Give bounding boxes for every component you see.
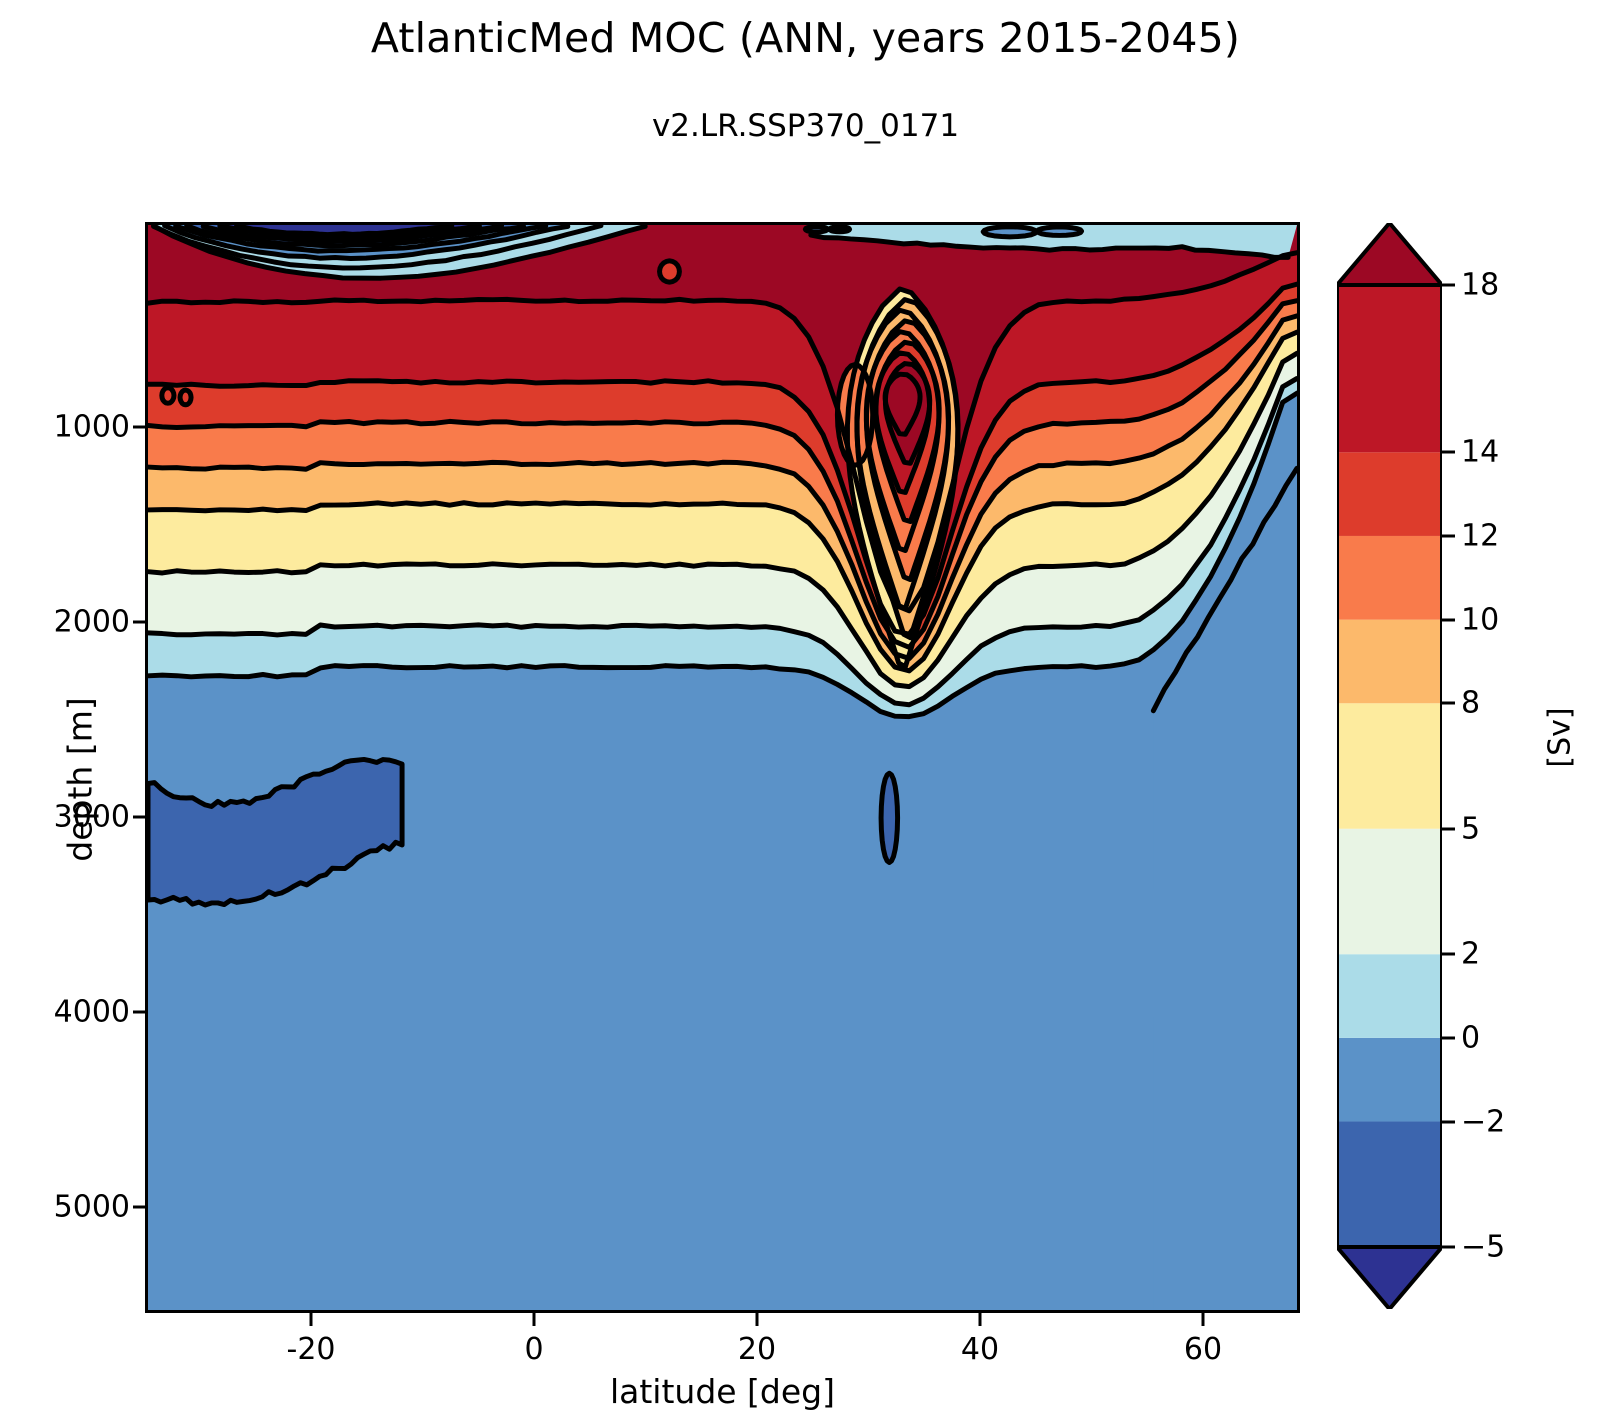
colorbar-tick-label: 5 [1461,811,1480,846]
x-tick-label: 60 [1143,1332,1263,1367]
contour-plot-area [145,222,1300,1313]
colorbar-tick-label: −5 [1461,1230,1505,1265]
x-axis-label: latitude [deg] [145,1372,1300,1411]
colorbar-tick-mark [1442,534,1455,537]
colorbar-tick-label: 18 [1461,268,1499,303]
colorbar-tick-mark [1442,451,1455,454]
colorbar-tick-label: 12 [1461,518,1499,553]
colorbar-tick-label: 10 [1461,602,1499,637]
chart-title: AtlanticMed MOC (ANN, years 2015-2045) [0,14,1611,62]
moc-contour-field [148,225,1297,1310]
x-tick-label: 0 [474,1332,594,1367]
colorbar-tick-mark [1442,284,1455,287]
chart-subtitle: v2.LR.SSP370_0171 [0,108,1611,144]
colorbar-tick-label: 0 [1461,1020,1480,1055]
colorbar-tick-mark [1442,618,1455,621]
y-axis-label: depth [m] [61,610,100,950]
colorbar-tick-mark [1442,1120,1455,1123]
colorbar-tick-mark [1442,702,1455,705]
colorbar-label: [Sv] [1543,648,1578,828]
colorbar-swatches [1337,223,1442,1309]
y-tick-label: 1000 [0,410,130,445]
x-tick-label: 20 [697,1332,817,1367]
y-tick-label: 4000 [0,995,130,1030]
colorbar-tick-label: 14 [1461,435,1499,470]
colorbar-tick-mark [1442,953,1455,956]
y-tick-label: 5000 [0,1190,130,1225]
x-tick-label: 40 [920,1332,1040,1367]
colorbar-tick-label: 8 [1461,686,1480,721]
colorbar-tick-label: −2 [1461,1104,1505,1139]
colorbar-tick-mark [1442,1036,1455,1039]
colorbar-tick-label: 2 [1461,937,1480,972]
colorbar-tick-mark [1442,1246,1455,1249]
colorbar [1337,223,1442,1309]
colorbar-tick-mark [1442,827,1455,830]
x-tick-label: -20 [251,1332,371,1367]
